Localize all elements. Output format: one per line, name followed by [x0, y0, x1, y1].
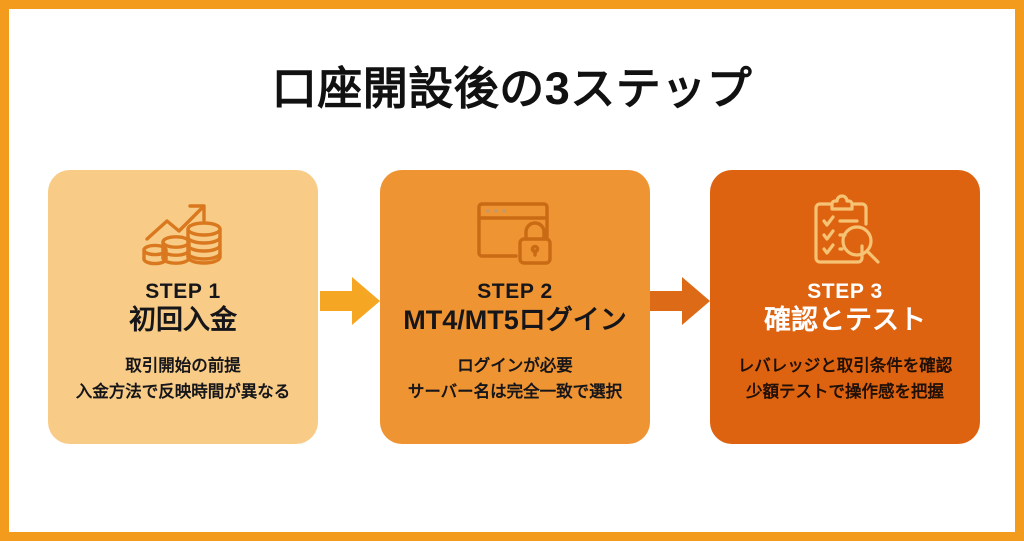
arrow-right-icon-1: [320, 275, 382, 327]
step-card-3[interactable]: STEP 3 確認とテスト レバレッジと取引条件を確認 少額テストで操作感を把握: [710, 170, 980, 444]
step-card-1[interactable]: STEP 1 初回入金 取引開始の前提 入金方法で反映時間が異なる: [48, 170, 318, 444]
step-description: 取引開始の前提 入金方法で反映時間が異なる: [76, 354, 291, 405]
steps-row: STEP 1 初回入金 取引開始の前提 入金方法で反映時間が異なる: [48, 170, 978, 444]
step-name: MT4/MT5ログイン: [403, 305, 627, 336]
step-name: 初回入金: [129, 305, 237, 336]
step-description-line1: 取引開始の前提: [76, 354, 291, 380]
arrow-right-icon-2: [650, 275, 712, 327]
infographic-root: 口座開設後の3ステップ: [0, 0, 1024, 541]
step-card-2[interactable]: STEP 2 MT4/MT5ログイン ログインが必要 サーバー名は完全一致で選択: [380, 170, 650, 444]
step-label: STEP 2: [477, 280, 553, 303]
clipboard-search-icon: [805, 192, 885, 272]
step-description-line1: レバレッジと取引条件を確認: [738, 354, 953, 380]
browser-lock-icon: [474, 192, 556, 272]
step-label: STEP 3: [807, 280, 883, 303]
step-description-line2: サーバー名は完全一致で選択: [408, 380, 622, 406]
step-label: STEP 1: [145, 280, 221, 303]
coins-growth-icon: [141, 192, 225, 272]
step-description-line2: 入金方法で反映時間が異なる: [76, 380, 291, 406]
step-description-line1: ログインが必要: [408, 354, 622, 380]
step-name: 確認とテスト: [764, 305, 926, 336]
step-description: レバレッジと取引条件を確認 少額テストで操作感を把握: [738, 354, 953, 405]
step-description-line2: 少額テストで操作感を把握: [738, 380, 953, 406]
page-title: 口座開設後の3ステップ: [0, 52, 1024, 117]
step-description: ログインが必要 サーバー名は完全一致で選択: [408, 354, 622, 405]
